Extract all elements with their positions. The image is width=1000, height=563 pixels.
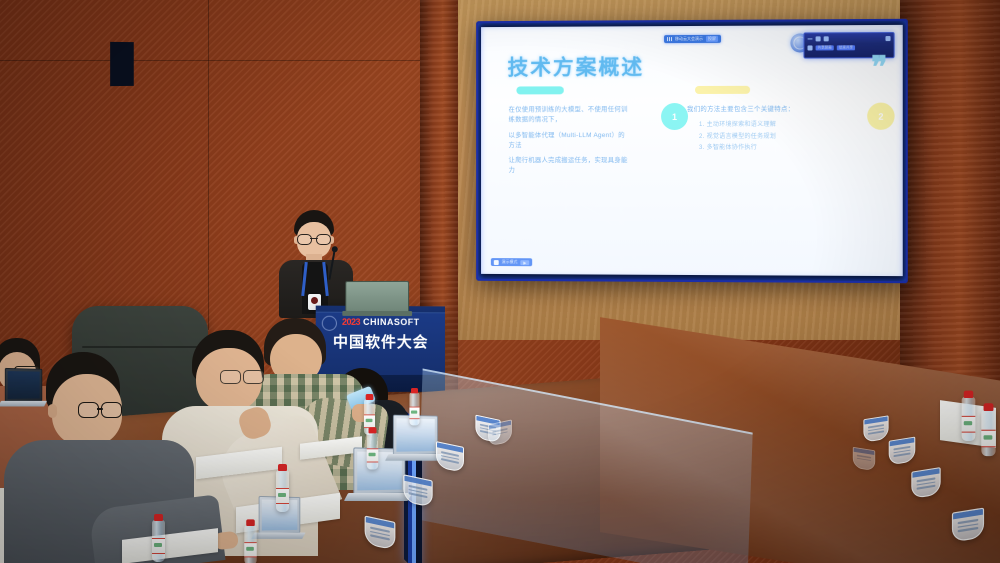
window-menu-icon[interactable] [885, 36, 890, 41]
bottle-cap [366, 394, 374, 400]
water-bottle[interactable] [152, 520, 165, 562]
column-1-number-badge: 1 [661, 103, 688, 130]
laptop-display [8, 371, 40, 399]
column-1-body: 1 在仅使用预训练的大模型、不使用任何训练数据的情况下， 以多智能体代理（Mul… [509, 105, 682, 176]
bottle-cap [154, 514, 163, 521]
water-bottle[interactable] [981, 410, 995, 456]
stop-share-button[interactable]: 结束共享 [837, 45, 855, 50]
slide-top-badge: 移动云大会演示 投屏 [664, 35, 721, 43]
laptop-keyboard[interactable] [0, 401, 47, 407]
glasses-lens-right [101, 402, 122, 418]
bottom-chip-play-button[interactable]: ▶ [520, 260, 529, 265]
column-2-tag-bar [695, 86, 750, 94]
signal-bars-icon [667, 37, 672, 41]
list-item: 1. 主动环境探索和语义理解 [699, 120, 878, 132]
slide-title: 技术方案概述 [508, 51, 645, 81]
maximize-icon[interactable] [816, 36, 821, 41]
attendee-ear [48, 404, 57, 418]
close-icon[interactable] [824, 36, 829, 41]
presenter [276, 210, 356, 315]
bottle-cap [246, 519, 255, 526]
bottle-label [364, 414, 375, 428]
screenshot-root: 技术方案概述 移动云大会演示 投屏 共享屏幕 结束共享 [0, 0, 1000, 563]
attendee-grey-sweater [22, 352, 192, 563]
slide-surface[interactable]: 技术方案概述 移动云大会演示 投屏 共享屏幕 结束共享 [481, 25, 903, 276]
record-icon [494, 260, 499, 265]
list-item: 2. 视觉语言模型的任务规划 [699, 131, 878, 143]
column-1-paragraph-3: 让爬行机器人完成搬运任务，实现具身能力 [509, 156, 630, 176]
slide-column-2: 2 我们的方法主要包含三个关键特点： 1. 主动环境探索和语义理解 2. 视觉语… [687, 85, 878, 154]
column-1-paragraph-1: 在仅使用预训练的大模型、不使用任何训练数据的情况下， [509, 105, 630, 126]
column-2-number-badge: 2 [867, 103, 894, 130]
bottle-label [152, 538, 165, 554]
bottle-cap [984, 403, 994, 411]
bottle-label [276, 488, 289, 504]
attendee-glasses [78, 402, 122, 416]
bottle-label [962, 416, 976, 433]
slide-bottom-chip[interactable]: 演示模式 ▶ [491, 258, 532, 266]
bottle-label [244, 542, 256, 557]
column-1-paragraph-2: 以多智能体代理（Multi-LLM Agent）的方法 [509, 131, 630, 151]
presentation-screen[interactable]: 技术方案概述 移动云大会演示 投屏 共享屏幕 结束共享 [476, 19, 908, 283]
laptop-keyboard[interactable] [344, 493, 412, 501]
water-bottle[interactable] [276, 470, 289, 512]
glasses-lens-left [297, 234, 312, 245]
presenter-glasses [297, 234, 331, 243]
attendee-laptop[interactable] [4, 368, 44, 401]
quote-mark-decoration: ❞ [871, 57, 886, 78]
water-bottle[interactable] [244, 525, 256, 563]
laptop-screen[interactable] [5, 368, 42, 402]
presenter-laptop[interactable] [345, 281, 409, 313]
laptop-keyboard[interactable] [251, 533, 306, 539]
bottle-cap [278, 464, 287, 471]
floating-window-titlebar[interactable] [804, 33, 893, 43]
glasses-lens-left [220, 370, 241, 384]
wall-seam-horizontal [0, 60, 460, 61]
bottom-chip-label: 演示模式 [502, 259, 518, 265]
share-icon[interactable] [808, 45, 813, 50]
glasses-lens-right [316, 234, 331, 245]
bottle-cap [369, 427, 377, 433]
top-badge-chip: 投屏 [706, 36, 718, 42]
laptop-keyboard[interactable] [385, 454, 444, 461]
list-item: 3. 多智能体协作执行 [699, 143, 878, 154]
water-bottle[interactable] [367, 433, 378, 470]
column-2-list: 1. 主动环境探索和语义理解 2. 视觉语言模型的任务规划 3. 多智能体协作执… [699, 120, 878, 154]
bottle-label [409, 407, 419, 419]
wall-seam-vertical [208, 0, 209, 330]
bottle-label [367, 448, 378, 462]
glasses-lens-left [78, 402, 99, 418]
column-2-body: 2 我们的方法主要包含三个关键特点： 1. 主动环境探索和语义理解 2. 视觉语… [687, 105, 878, 155]
column-1-tag-bar [516, 86, 563, 94]
minimize-icon[interactable] [808, 38, 813, 39]
top-badge-label: 移动云大会演示 [675, 36, 703, 42]
banner-english-title: CHINASOFT [363, 317, 420, 327]
attendee-glasses [220, 370, 264, 382]
bottle-cap [411, 388, 418, 393]
glasses-lens-right [243, 370, 264, 384]
bottle-label [981, 430, 995, 448]
bottle-cap [964, 391, 973, 398]
podium-side-shadow [110, 42, 134, 86]
column-2-paragraph-1: 我们的方法主要包含三个关键特点： [687, 105, 805, 115]
share-screen-button[interactable]: 共享屏幕 [816, 45, 834, 50]
slide-column-1: 1 在仅使用预训练的大模型、不使用任何训练数据的情况下， 以多智能体代理（Mul… [509, 86, 682, 181]
water-bottle[interactable] [962, 397, 976, 441]
water-bottle[interactable] [409, 393, 419, 426]
